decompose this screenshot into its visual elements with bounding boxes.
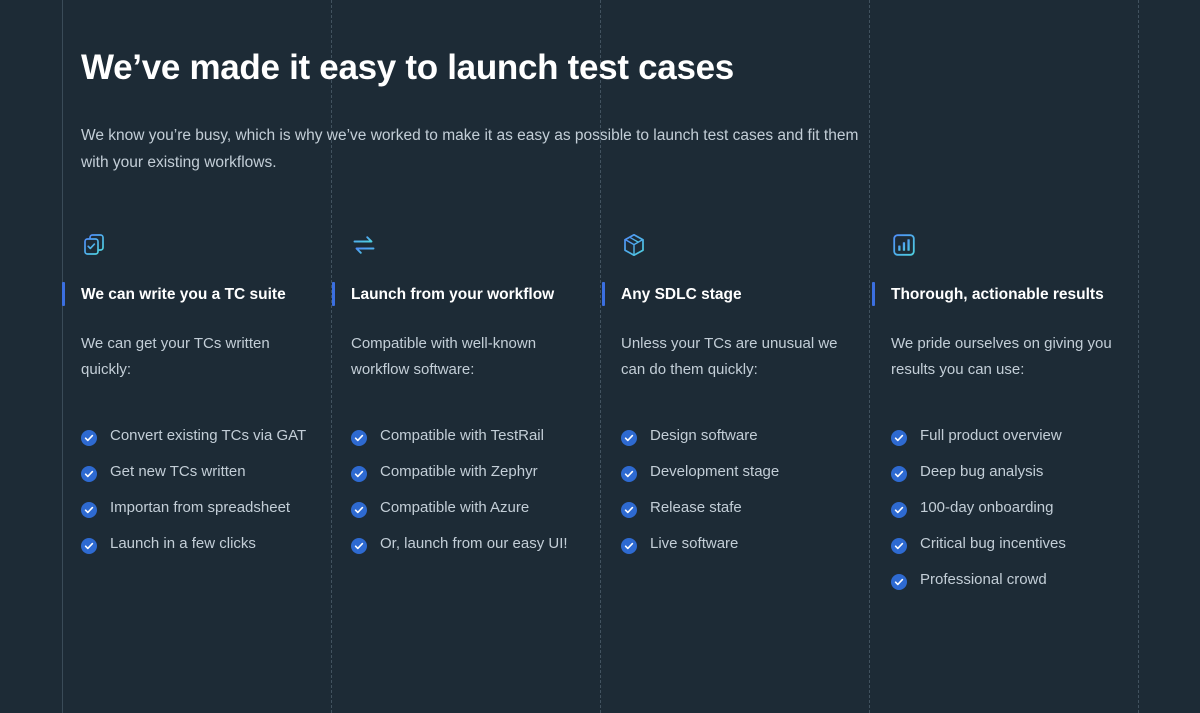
list-item-label: Get new TCs written xyxy=(110,461,310,483)
feature-title: We can write you a TC suite xyxy=(81,284,329,306)
list-item-label: Or, launch from our easy UI! xyxy=(380,533,580,555)
feature-description: Compatible with well-known workflow soft… xyxy=(351,331,591,399)
check-circle-icon xyxy=(891,538,907,554)
list-item: Critical bug incentives xyxy=(891,533,1139,555)
check-circle-icon xyxy=(891,502,907,518)
list-item: Compatible with Azure xyxy=(351,497,599,519)
feature-section: We’ve made it easy to launch test cases … xyxy=(0,0,1200,713)
list-item-label: Live software xyxy=(650,533,850,555)
check-circle-icon xyxy=(81,466,97,482)
list-item-label: Compatible with Zephyr xyxy=(380,461,580,483)
list-item-label: Deep bug analysis xyxy=(920,461,1120,483)
feature-list: Design software Development stage Releas… xyxy=(621,425,869,555)
feature-heading-row: Thorough, actionable results xyxy=(891,284,1139,306)
list-item: Development stage xyxy=(621,461,869,483)
list-item: Or, launch from our easy UI! xyxy=(351,533,599,555)
check-circle-icon xyxy=(81,430,97,446)
check-circle-icon xyxy=(621,430,637,446)
list-item: Professional crowd xyxy=(891,569,1139,591)
clipboard-check-copy-icon xyxy=(81,232,107,258)
list-item: Compatible with Zephyr xyxy=(351,461,599,483)
list-item-label: Design software xyxy=(650,425,850,447)
cube-box-icon xyxy=(621,232,647,258)
feature-column-thorough-results: Thorough, actionable results We pride ou… xyxy=(891,232,1161,605)
list-item-label: Compatible with Azure xyxy=(380,497,580,519)
list-item: Design software xyxy=(621,425,869,447)
list-item: Release stafe xyxy=(621,497,869,519)
list-item-label: Development stage xyxy=(650,461,850,483)
list-item-label: Full product overview xyxy=(920,425,1120,447)
accent-bar xyxy=(332,282,335,306)
feature-description: Unless your TCs are unusual we can do th… xyxy=(621,331,861,399)
check-circle-icon xyxy=(891,574,907,590)
list-item-label: Convert existing TCs via GAT xyxy=(110,425,310,447)
section-content: We’ve made it easy to launch test cases … xyxy=(81,0,1141,176)
left-border-rule xyxy=(62,0,63,713)
list-item: Launch in a few clicks xyxy=(81,533,329,555)
list-item: Live software xyxy=(621,533,869,555)
check-circle-icon xyxy=(81,502,97,518)
list-item: Deep bug analysis xyxy=(891,461,1139,483)
list-item: Get new TCs written xyxy=(81,461,329,483)
list-item: Compatible with TestRail xyxy=(351,425,599,447)
section-subtitle: We know you’re busy, which is why we’ve … xyxy=(81,122,871,176)
page-title: We’ve made it easy to launch test cases xyxy=(81,47,1141,89)
feature-description: We pride ourselves on giving you results… xyxy=(891,331,1131,399)
check-circle-icon xyxy=(621,538,637,554)
accent-bar xyxy=(602,282,605,306)
list-item: Importan from spreadsheet xyxy=(81,497,329,519)
feature-heading-row: Any SDLC stage xyxy=(621,284,869,306)
exchange-arrows-icon xyxy=(351,232,377,258)
feature-list: Convert existing TCs via GAT Get new TCs… xyxy=(81,425,329,555)
check-circle-icon xyxy=(351,466,367,482)
check-circle-icon xyxy=(621,466,637,482)
feature-columns: We can write you a TC suite We can get y… xyxy=(81,232,1141,605)
list-item-label: Importan from spreadsheet xyxy=(110,497,310,519)
list-item-label: Critical bug incentives xyxy=(920,533,1120,555)
check-circle-icon xyxy=(351,430,367,446)
feature-list: Compatible with TestRail Compatible with… xyxy=(351,425,599,555)
feature-title: Any SDLC stage xyxy=(621,284,869,306)
list-item-label: 100-day onboarding xyxy=(920,497,1120,519)
list-item-label: Compatible with TestRail xyxy=(380,425,580,447)
feature-heading-row: We can write you a TC suite xyxy=(81,284,329,306)
feature-title: Launch from your workflow xyxy=(351,284,599,306)
list-item: Full product overview xyxy=(891,425,1139,447)
feature-column-launch-from-workflow: Launch from your workflow Compatible wit… xyxy=(351,232,621,605)
feature-heading-row: Launch from your workflow xyxy=(351,284,599,306)
list-item: Convert existing TCs via GAT xyxy=(81,425,329,447)
list-item: 100-day onboarding xyxy=(891,497,1139,519)
bar-chart-box-icon xyxy=(891,232,917,258)
feature-description: We can get your TCs written quickly: xyxy=(81,331,321,399)
feature-column-write-tc-suite: We can write you a TC suite We can get y… xyxy=(81,232,351,605)
feature-list: Full product overview Deep bug analysis … xyxy=(891,425,1139,591)
feature-column-any-sdlc-stage: Any SDLC stage Unless your TCs are unusu… xyxy=(621,232,891,605)
accent-bar xyxy=(872,282,875,306)
check-circle-icon xyxy=(81,538,97,554)
check-circle-icon xyxy=(891,466,907,482)
list-item-label: Launch in a few clicks xyxy=(110,533,310,555)
check-circle-icon xyxy=(351,538,367,554)
list-item-label: Professional crowd xyxy=(920,569,1120,591)
check-circle-icon xyxy=(891,430,907,446)
list-item-label: Release stafe xyxy=(650,497,850,519)
accent-bar xyxy=(62,282,65,306)
check-circle-icon xyxy=(351,502,367,518)
check-circle-icon xyxy=(621,502,637,518)
feature-title: Thorough, actionable results xyxy=(891,284,1139,306)
